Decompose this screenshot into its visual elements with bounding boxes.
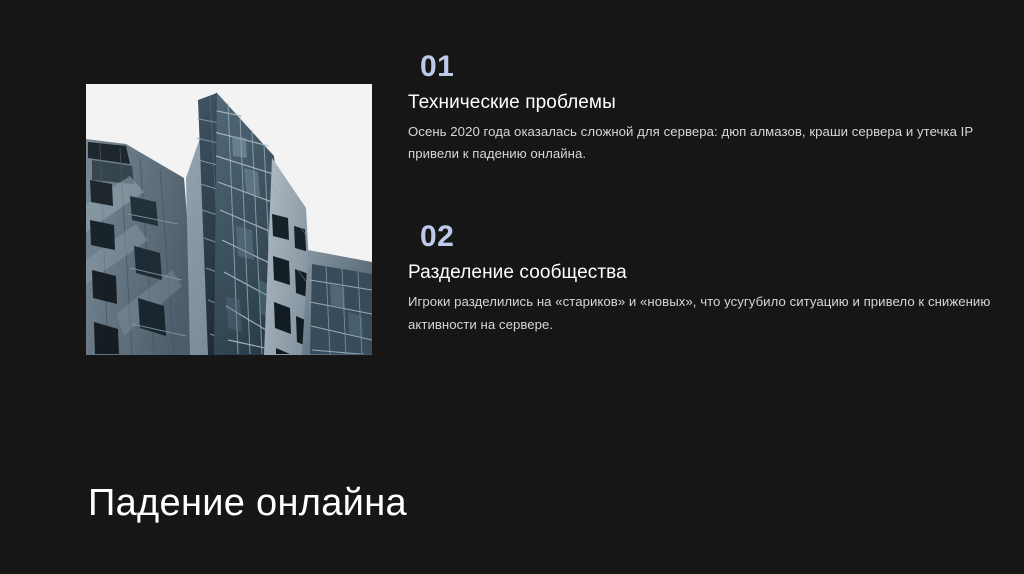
presentation-slide: 01 Технические проблемы Осень 2020 года … xyxy=(0,0,1024,574)
point-block-1: 01 Технические проблемы Осень 2020 года … xyxy=(408,52,998,166)
slide-title: Падение онлайна xyxy=(88,483,407,525)
point-body-1: Осень 2020 года оказалась сложной для се… xyxy=(408,121,992,166)
point-number-1: 01 xyxy=(420,52,998,82)
content-column: 01 Технические проблемы Осень 2020 года … xyxy=(408,52,998,336)
building-photo-graphic xyxy=(86,84,372,355)
point-number-2: 02 xyxy=(420,222,998,252)
point-body-2: Игроки разделились на «стариков» и «новы… xyxy=(408,291,992,336)
point-block-2: 02 Разделение сообщества Игроки разделил… xyxy=(408,222,998,336)
point-heading-1: Технические проблемы xyxy=(408,91,998,115)
point-heading-2: Разделение сообщества xyxy=(408,261,998,285)
building-photo xyxy=(86,84,372,355)
